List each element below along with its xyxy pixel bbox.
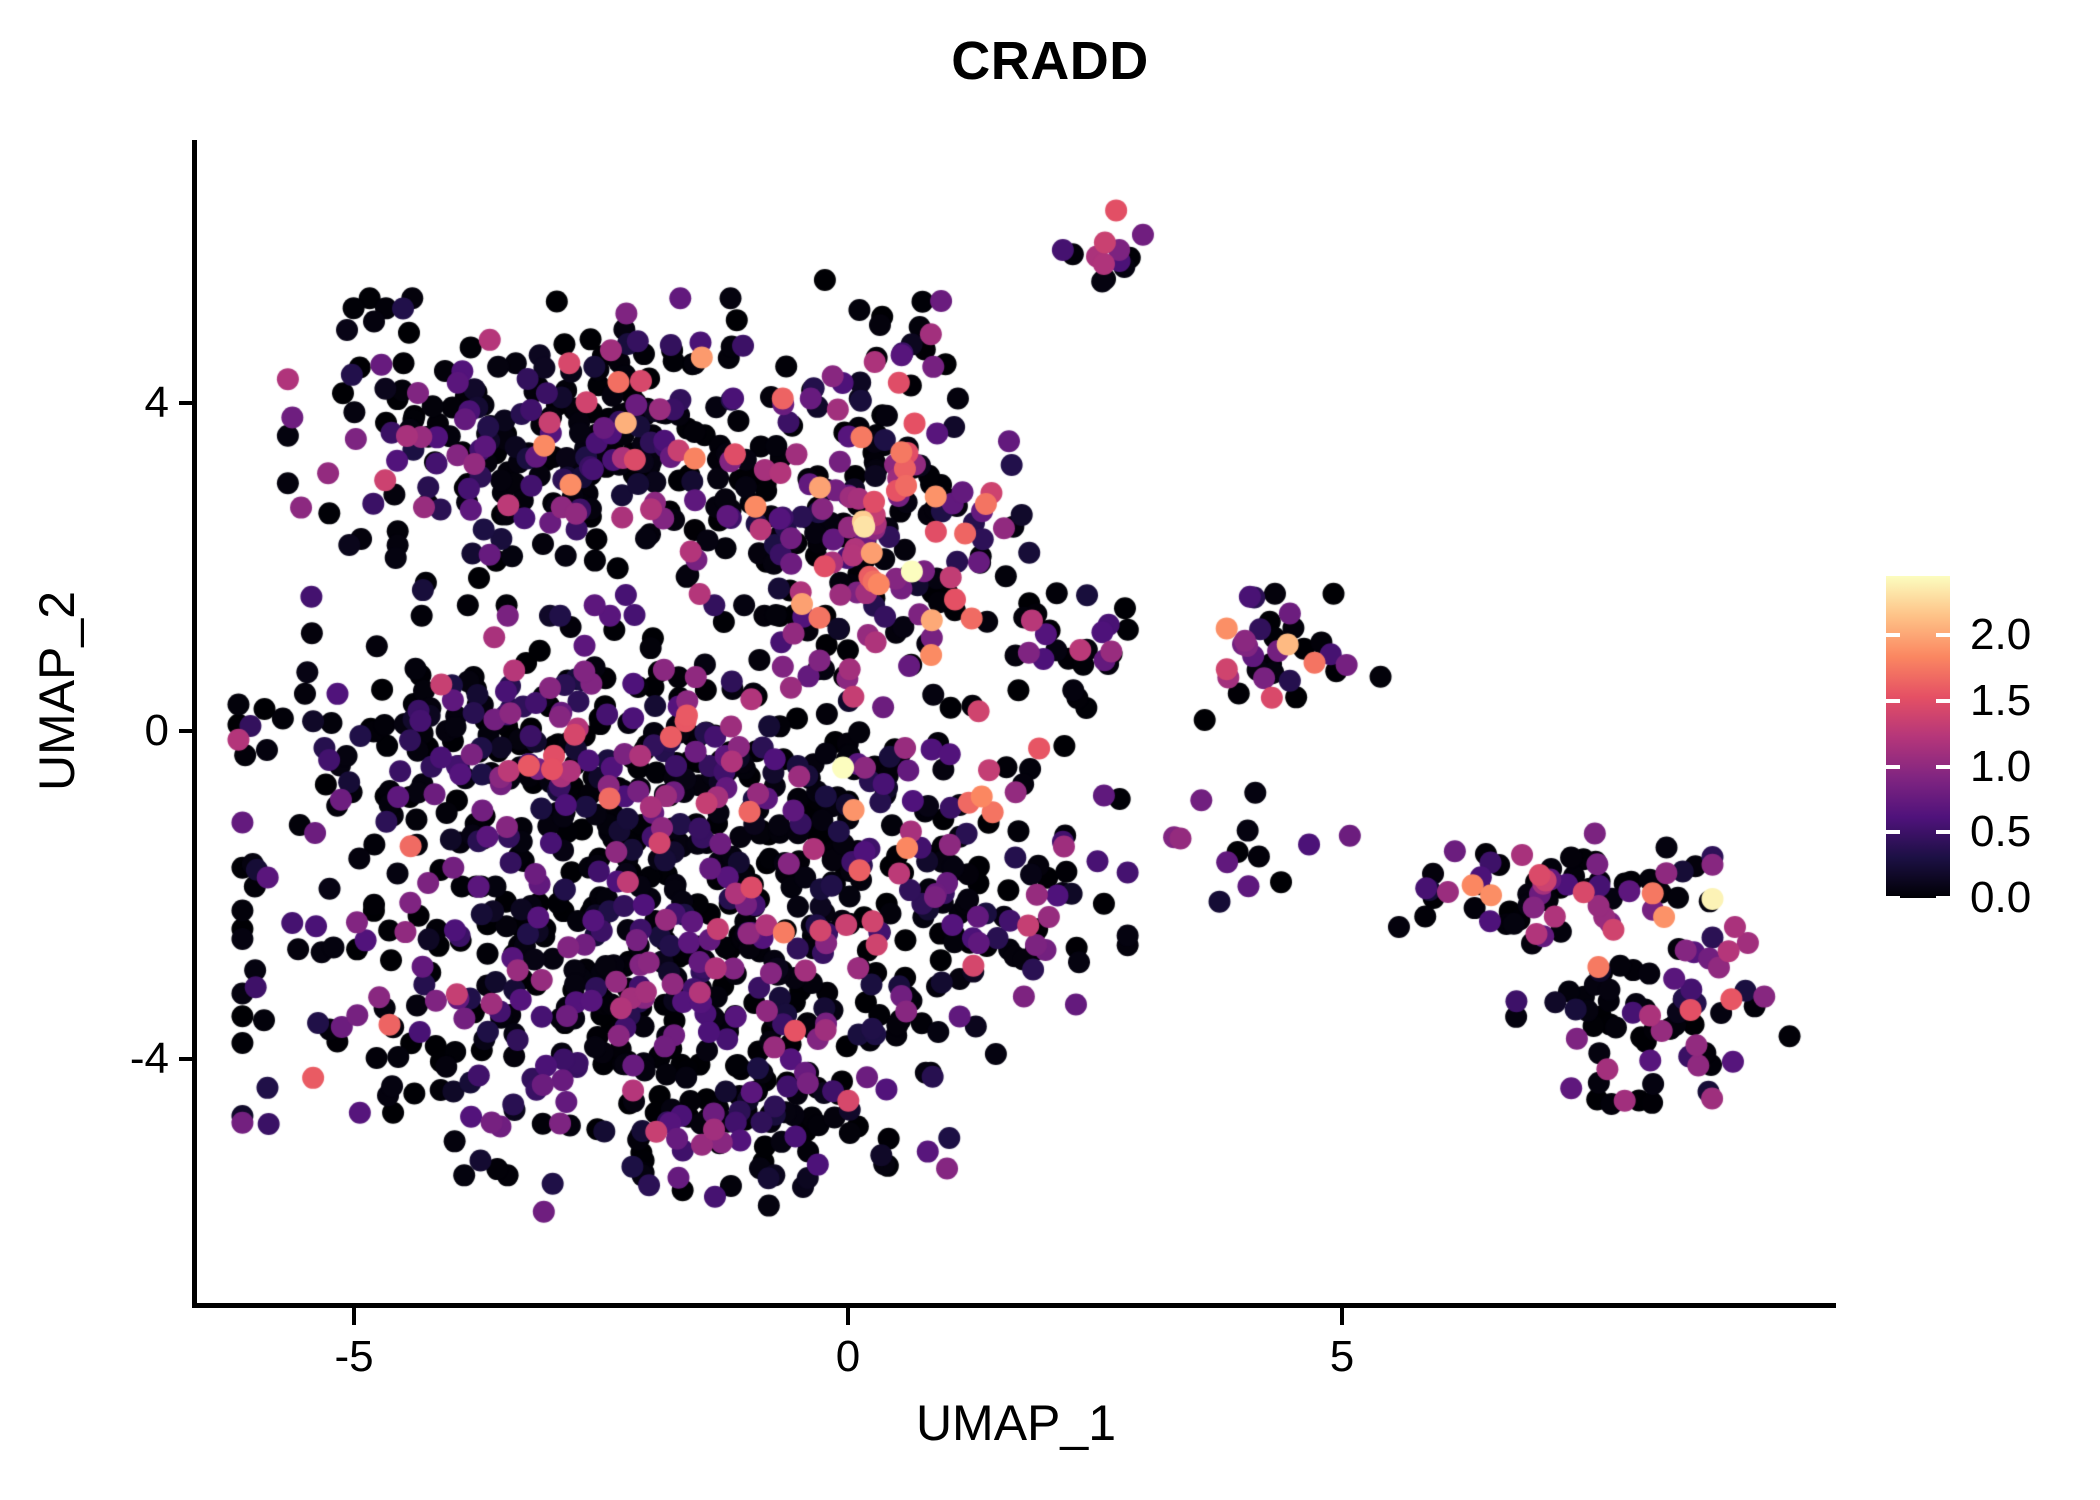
- colorbar-tick-left: [1886, 765, 1900, 769]
- colorbar-legend: 2.01.51.00.50.0: [1886, 576, 2086, 902]
- umap-feature-plot: CRADD 40-4 -505 UMAP_1 UMAP_2 2.01.51.00…: [0, 0, 2100, 1500]
- y-tick-mark: [179, 401, 196, 405]
- colorbar-tick-label: 0.0: [1970, 876, 2031, 920]
- y-tick-label: 4: [0, 381, 169, 425]
- x-tick-label: -5: [254, 1335, 454, 1379]
- colorbar-tick-label: 0.5: [1970, 810, 2031, 854]
- colorbar-gradient: [1886, 576, 1950, 898]
- y-tick-label: -4: [0, 1037, 169, 1081]
- x-axis-line: [192, 1303, 1836, 1308]
- colorbar-tick-right: [1936, 633, 1950, 637]
- colorbar-tick-right: [1936, 765, 1950, 769]
- colorbar-tick-right: [1936, 896, 1950, 900]
- colorbar-tick-right: [1936, 699, 1950, 703]
- y-tick-mark: [179, 1057, 196, 1061]
- colorbar-tick-left: [1886, 699, 1900, 703]
- x-tick-mark: [846, 1308, 850, 1325]
- colorbar-tick-label: 2.0: [1970, 613, 2031, 657]
- colorbar-tick-left: [1886, 896, 1900, 900]
- colorbar-tick-right: [1936, 830, 1950, 834]
- page-title: CRADD: [0, 34, 2100, 88]
- colorbar-tick-label: 1.5: [1970, 679, 2031, 723]
- plot-panel: [196, 140, 1836, 1305]
- x-tick-label: 0: [748, 1335, 948, 1379]
- x-tick-label: 5: [1242, 1335, 1442, 1379]
- colorbar-tick-left: [1886, 830, 1900, 834]
- y-axis-title: UMAP_2: [32, 391, 82, 991]
- scatter-points-canvas: [196, 140, 1836, 1305]
- colorbar-tick-left: [1886, 633, 1900, 637]
- x-tick-mark: [352, 1308, 356, 1325]
- x-tick-mark: [1340, 1308, 1344, 1325]
- colorbar-tick-label: 1.0: [1970, 745, 2031, 789]
- y-axis-line: [192, 140, 197, 1308]
- y-tick-mark: [179, 729, 196, 733]
- x-axis-title: UMAP_1: [196, 1398, 1836, 1448]
